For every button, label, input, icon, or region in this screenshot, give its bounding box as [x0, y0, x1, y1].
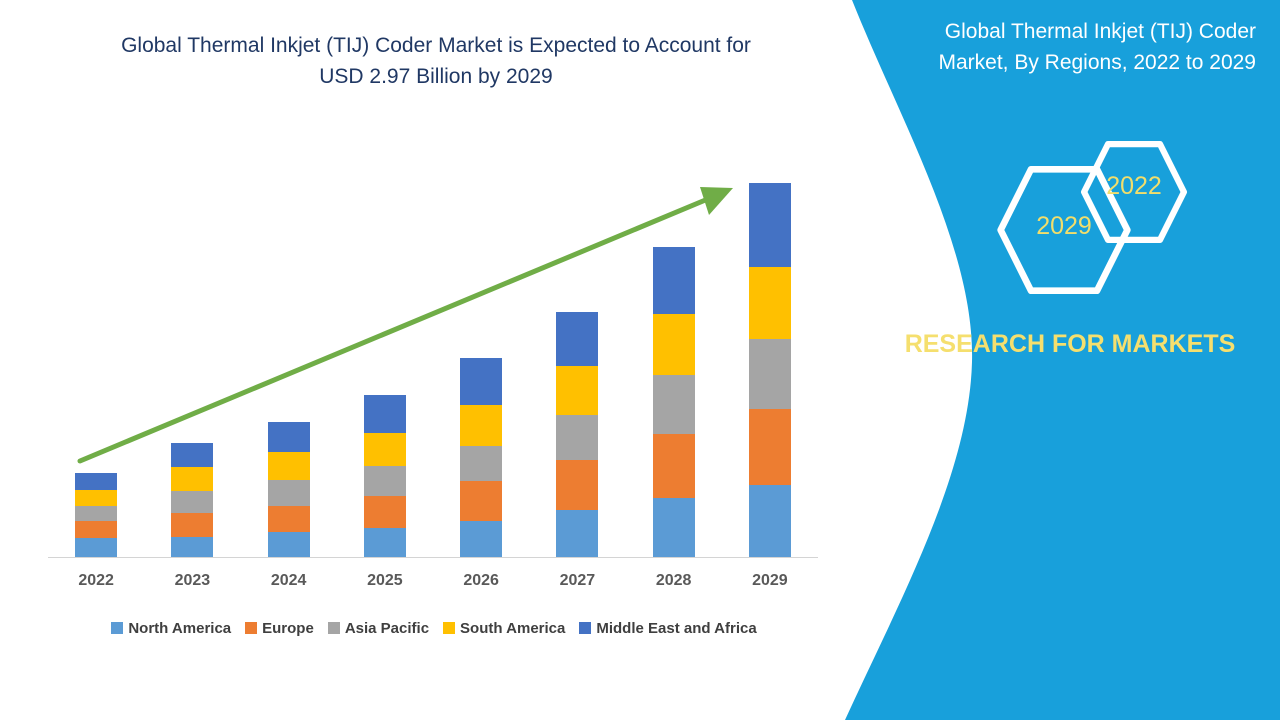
x-axis-tick-2028: 2028 — [626, 572, 722, 590]
bar-segment — [364, 528, 406, 557]
bar-group-2027 — [529, 170, 625, 557]
legend-item-4[interactable]: Middle East and Africa — [579, 620, 756, 637]
legend-swatch-icon — [111, 622, 123, 634]
bar-segment — [268, 506, 310, 533]
bar-segment — [556, 460, 598, 510]
bar-group-2025 — [337, 170, 433, 557]
legend-item-0[interactable]: North America — [111, 620, 231, 637]
legend-label: Asia Pacific — [345, 620, 429, 637]
legend-item-3[interactable]: South America — [443, 620, 565, 637]
bar-segment — [749, 485, 791, 557]
bar-segment — [268, 422, 310, 452]
x-axis-tick-2024: 2024 — [241, 572, 337, 590]
legend-swatch-icon — [328, 622, 340, 634]
bar-segment — [460, 481, 502, 521]
x-axis-tick-2022: 2022 — [48, 572, 144, 590]
bar-segment — [75, 506, 117, 521]
bar-segment — [75, 490, 117, 506]
x-axis-tick-2023: 2023 — [144, 572, 240, 590]
infographic-slide: Global Thermal Inkjet (TIJ) Coder Market… — [0, 0, 1280, 720]
bar-segment — [75, 521, 117, 538]
bar-segment — [653, 498, 695, 557]
bar-segment — [364, 433, 406, 466]
chart-legend: North AmericaEuropeAsia PacificSouth Ame… — [48, 616, 820, 640]
bar-segment — [75, 473, 117, 489]
legend-swatch-icon — [443, 622, 455, 634]
bar-segment — [749, 409, 791, 485]
x-axis-tick-2025: 2025 — [337, 572, 433, 590]
x-axis-tick-2027: 2027 — [529, 572, 625, 590]
bar-segment — [364, 395, 406, 433]
bar-segment — [460, 405, 502, 446]
x-axis-labels: 20222023202420252026202720282029 — [48, 572, 818, 598]
bar-segment — [364, 466, 406, 496]
legend-swatch-icon — [579, 622, 591, 634]
bar-segment — [653, 375, 695, 434]
bar-segment — [171, 491, 213, 514]
stacked-bar — [364, 395, 406, 557]
bar-segment — [268, 452, 310, 480]
x-axis-line — [48, 557, 818, 558]
bar-segment — [556, 312, 598, 367]
bar-segment — [171, 467, 213, 491]
bar-segment — [460, 446, 502, 481]
bar-group-2024 — [241, 170, 337, 557]
legend-label: South America — [460, 620, 565, 637]
bar-segment — [171, 513, 213, 537]
bar-group-2022 — [48, 170, 144, 557]
bar-segment — [749, 339, 791, 409]
bar-segment — [171, 443, 213, 467]
bar-chart-plot — [48, 170, 818, 557]
bar-segment — [556, 366, 598, 414]
legend-item-2[interactable]: Asia Pacific — [328, 620, 429, 637]
bar-group-2029 — [722, 170, 818, 557]
stacked-bar — [460, 358, 502, 557]
stacked-bar — [268, 422, 310, 557]
bar-segment — [749, 183, 791, 267]
legend-label: Middle East and Africa — [596, 620, 756, 637]
bar-segment — [268, 480, 310, 506]
x-axis-tick-2026: 2026 — [433, 572, 529, 590]
bar-group-2026 — [433, 170, 529, 557]
bar-segment — [460, 521, 502, 557]
legend-item-1[interactable]: Europe — [245, 620, 314, 637]
legend-label: Europe — [262, 620, 314, 637]
bar-segment — [268, 532, 310, 557]
x-axis-tick-2029: 2029 — [722, 572, 818, 590]
bar-segment — [556, 415, 598, 460]
bar-segment — [653, 434, 695, 498]
bar-segment — [75, 538, 117, 557]
bar-group-2023 — [144, 170, 240, 557]
legend-swatch-icon — [245, 622, 257, 634]
bar-segment — [749, 267, 791, 340]
stacked-bar — [171, 443, 213, 557]
bar-segment — [653, 314, 695, 375]
bar-segment — [171, 537, 213, 557]
stacked-bar — [749, 183, 791, 557]
bar-group-2028 — [626, 170, 722, 557]
bar-segment — [460, 358, 502, 405]
stacked-bar — [75, 473, 117, 557]
bar-segment — [556, 510, 598, 557]
legend-label: North America — [128, 620, 231, 637]
stacked-bar — [556, 312, 598, 557]
bar-segment — [364, 496, 406, 528]
stacked-bar — [653, 247, 695, 557]
bar-segment — [653, 247, 695, 313]
